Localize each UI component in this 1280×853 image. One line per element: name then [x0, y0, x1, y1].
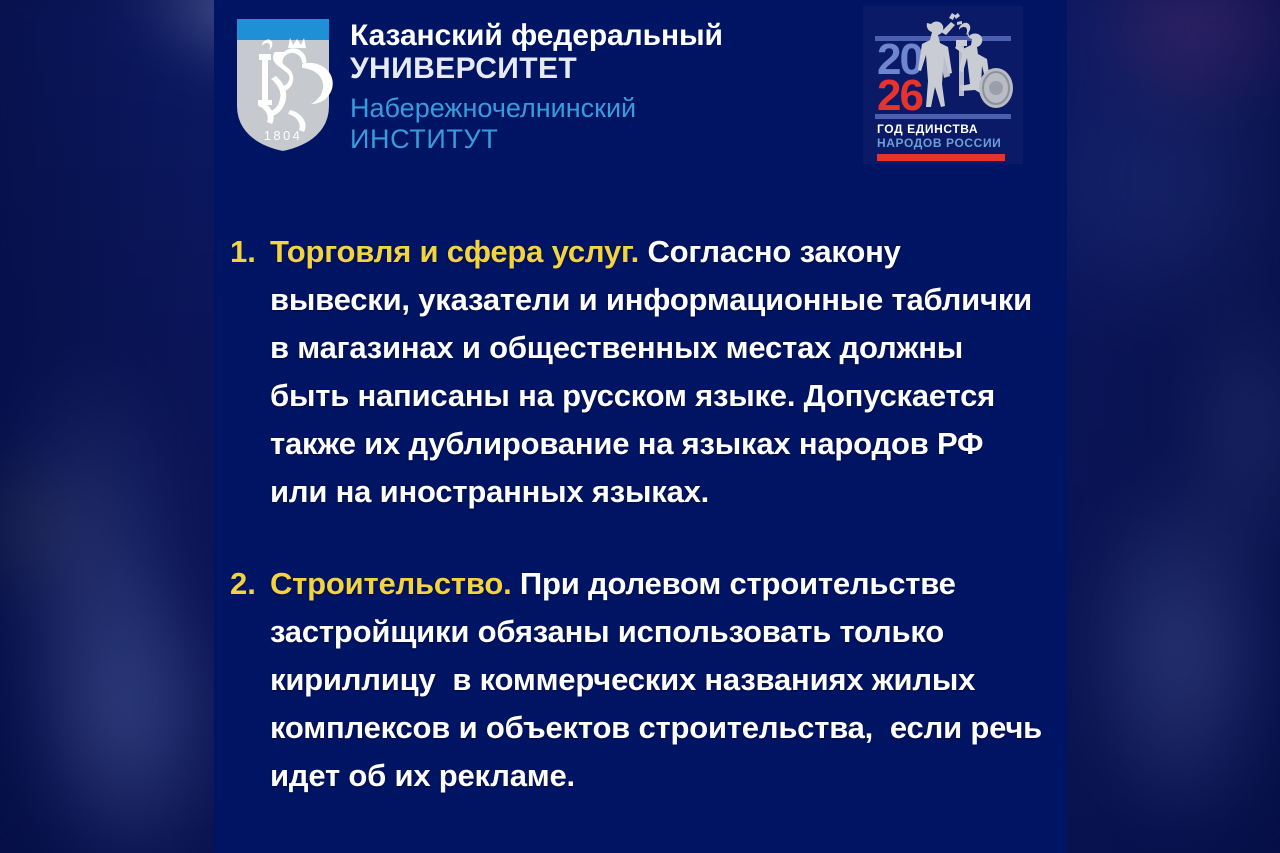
slide-header: 1804 Казанский федеральный УНИВЕРСИТЕТ Н… [214, 0, 1067, 180]
year-2026-emblem-icon: 20 26 [863, 6, 1023, 164]
kfu-shield-zilant-icon: 1804 [232, 14, 334, 156]
kfu-logo-lockup: 1804 Казанский федеральный УНИВЕРСИТЕТ Н… [232, 14, 723, 156]
slide-stage: 1804 Казанский федеральный УНИВЕРСИТЕТ Н… [0, 0, 1280, 853]
kfu-wordmark: Казанский федеральный УНИВЕРСИТЕТ Набере… [350, 14, 723, 154]
rules-list: 1. Торговля и сфера услуг. Согласно зако… [214, 228, 1067, 844]
svg-text:ГОД ЕДИНСТВА: ГОД ЕДИНСТВА [877, 122, 978, 136]
list-item-text: Торговля и сфера услуг. Согласно закону … [270, 228, 1045, 516]
list-item-text: Строительство. При долевом строительстве… [270, 560, 1045, 800]
list-item-lead: Торговля и сфера услуг. [270, 234, 639, 269]
list-item: 1. Торговля и сфера услуг. Согласно зако… [226, 228, 1045, 516]
svg-text:1804: 1804 [264, 128, 303, 143]
list-item-rest: Согласно закону вывески, указатели и инф… [270, 234, 1040, 509]
wordmark-line-kazan-federal: Казанский федеральный [350, 20, 723, 52]
slide-panel: 1804 Казанский федеральный УНИВЕРСИТЕТ Н… [214, 0, 1067, 853]
list-item-marker: 1. [226, 228, 270, 516]
wordmark-line-institute: ИНСТИТУТ [350, 124, 723, 154]
list-item-lead: Строительство. [270, 566, 512, 601]
list-item-marker: 2. [226, 560, 270, 800]
list-item: 2. Строительство. При долевом строительс… [226, 560, 1045, 800]
svg-text:26: 26 [877, 71, 922, 120]
wordmark-line-naberezhnochelninsky: Набережночелнинский [350, 94, 723, 123]
svg-text:НАРОДОВ РОССИИ: НАРОДОВ РОССИИ [877, 136, 1001, 150]
wordmark-line-university: УНИВЕРСИТЕТ [350, 52, 723, 86]
